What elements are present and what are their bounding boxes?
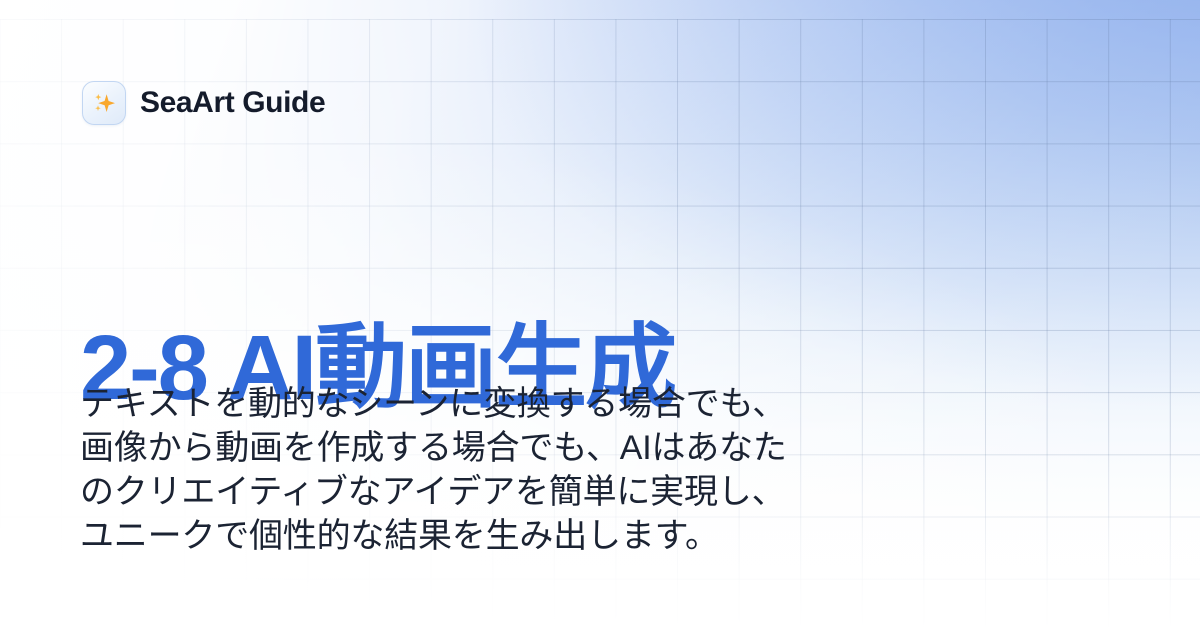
- brand-lockup: SeaArt Guide: [82, 81, 325, 125]
- hero-description: テキストを動的なシーンに変換する場合でも、 画像から動画を作成する場合でも、AI…: [80, 382, 787, 558]
- description-line: 画像から動画を作成する場合でも、AIはあなた: [80, 426, 787, 470]
- sparkles-icon: [82, 81, 126, 125]
- description-line: テキストを動的なシーンに変換する場合でも、: [80, 382, 787, 426]
- hero-content: SeaArt Guide 2-8 AI動画生成 テキストを動的なシーンに変換する…: [0, 0, 1200, 630]
- brand-title: SeaArt Guide: [140, 88, 325, 118]
- description-line: のクリエイティブなアイデアを簡単に実現し、: [80, 470, 787, 514]
- description-line: ユニークで個性的な結果を生み出します。: [80, 514, 787, 558]
- hero-banner: SeaArt Guide 2-8 AI動画生成 テキストを動的なシーンに変換する…: [0, 0, 1200, 630]
